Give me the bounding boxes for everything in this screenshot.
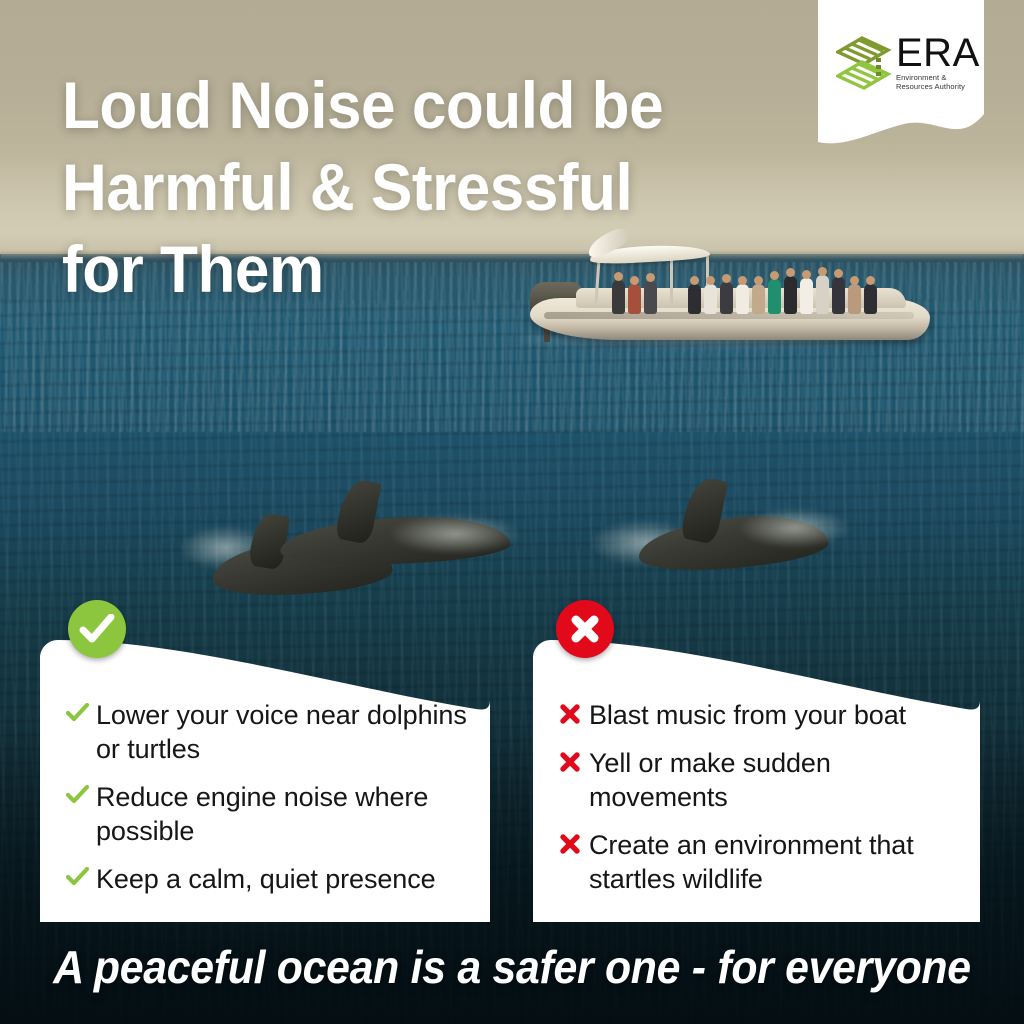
list-item-label: Lower your voice near dolphins or turtle… [96,698,472,766]
x-icon [559,746,589,778]
list-item-label: Create an environment that startles wild… [589,828,962,896]
logo-wordmark: ERA [896,34,984,72]
check-icon [66,780,96,810]
list-item: Yell or make sudden movements [559,746,962,814]
x-circle-icon [556,600,614,658]
boat-passenger [848,284,861,314]
headline-line-2: Harmful & Stressful [62,146,701,228]
boat-passenger [720,282,733,314]
check-icon [66,698,96,728]
boat-passenger [736,284,749,314]
list-item: Lower your voice near dolphins or turtle… [66,698,472,766]
list-item-label: Reduce engine noise where possible [96,780,472,848]
boat-passenger [704,284,717,314]
list-item: Blast music from your boat [559,698,962,732]
check-circle-icon [68,600,126,658]
list-item: Reduce engine noise where possible [66,780,472,848]
check-icon [66,862,96,892]
boat-passenger [800,278,813,314]
boat-passenger [784,276,797,314]
x-icon [559,828,589,860]
dolphin-right [590,470,840,585]
tagline: A peaceful ocean is a safer one - for ev… [36,940,988,994]
list-item: Keep a calm, quiet presence [66,862,472,896]
boat-passenger [864,284,877,314]
poster-canvas: Loud Noise could be Harmful & Stressful … [0,0,1024,1024]
boat-passenger [816,275,829,314]
boat-passenger [768,279,781,314]
logo-subtitle: Environment & Resources Authority [896,73,984,91]
dont-list: Blast music from your boat Yell or make … [533,698,980,910]
dolphin-middle [250,470,520,580]
do-list: Lower your voice near dolphins or turtle… [40,698,490,910]
list-item-label: Yell or make sudden movements [589,746,962,814]
era-ladder-mark-icon [836,32,892,94]
x-icon [559,698,589,730]
boat-passenger [752,284,765,314]
list-item-label: Blast music from your boat [589,698,906,732]
headline-line-3: for Them [62,228,701,310]
page-title: Loud Noise could be Harmful & Stressful … [62,64,701,310]
boat-passenger [832,277,845,314]
list-item-label: Keep a calm, quiet presence [96,862,436,896]
headline-line-1: Loud Noise could be [62,64,701,146]
list-item: Create an environment that startles wild… [559,828,962,896]
